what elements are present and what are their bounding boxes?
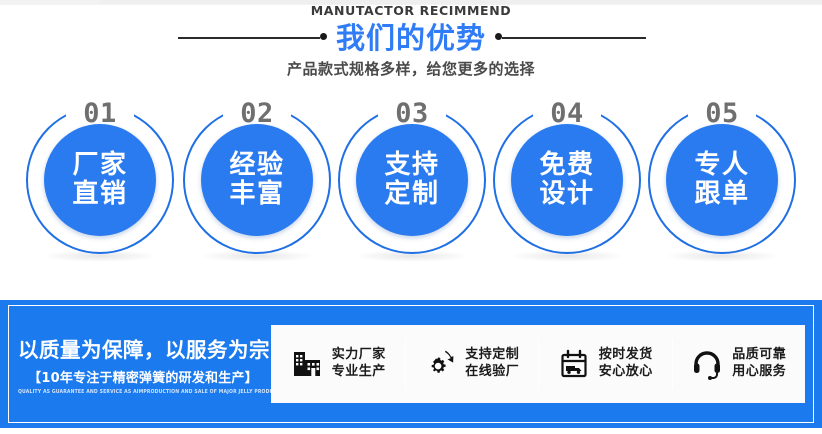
advantage-number: 01 (20, 98, 180, 129)
banner-slogan: 以质量为保障，以服务为宗旨 【10年专注于精密弹簧的研发和生产】 QUALITY… (18, 333, 268, 395)
header-title-row: 我们的优势 (0, 22, 822, 54)
advantage-text: 支持 定制 (356, 124, 468, 236)
header-section: MANUTACTOR RECIMMEND 我们的优势 产品款式规格多样，给您更多… (0, 0, 822, 90)
feature-label: 品质可靠 用心服务 (732, 347, 786, 381)
feature-label-line2: 安心放心 (599, 364, 653, 381)
advantage-text-line2: 设计 (539, 180, 594, 209)
advantage-text: 经验 丰富 (201, 124, 313, 236)
headset-icon (690, 347, 724, 381)
header-subtitle: 产品款式规格多样，给您更多的选择 (0, 58, 822, 79)
advantage-text-line2: 定制 (384, 180, 439, 209)
title-dot-right-icon (495, 33, 502, 40)
advantage-text-line1: 免费 (539, 151, 594, 180)
feature-label: 实力厂家 专业生产 (332, 347, 386, 381)
feature-label-line1: 品质可靠 (732, 347, 786, 364)
gear-arrow-icon (423, 347, 457, 381)
feature-panel: 实力厂家 专业生产 支持定制 在线验厂 (271, 325, 805, 403)
feature-label-line1: 支持定制 (465, 347, 519, 364)
advantage-item-05[interactable]: 专人 跟单 05 (642, 100, 802, 272)
feature-label-line2: 在线验厂 (465, 364, 519, 381)
feature-label-line1: 按时发货 (599, 347, 653, 364)
bottom-banner: 以质量为保障，以服务为宗旨 【10年专注于精密弹簧的研发和生产】 QUALITY… (0, 300, 822, 428)
advantage-text: 厂家 直销 (44, 124, 156, 236)
advantage-item-04[interactable]: 免费 设计 04 (487, 100, 647, 272)
page-title: 我们的优势 (0, 22, 822, 54)
advantage-item-01[interactable]: 厂家 直销 01 (20, 100, 180, 272)
advantage-text-line2: 跟单 (694, 180, 749, 209)
feature-label: 支持定制 在线验厂 (465, 347, 519, 381)
advantage-text-line2: 丰富 (229, 180, 284, 209)
feature-item-factory[interactable]: 实力厂家 专业生产 (271, 325, 405, 403)
advantage-text: 免费 设计 (511, 124, 623, 236)
feature-item-customization[interactable]: 支持定制 在线验厂 (405, 325, 539, 403)
advantage-text-line2: 直销 (72, 180, 127, 209)
advantage-number: 02 (177, 98, 337, 129)
header-eyebrow: MANUTACTOR RECIMMEND (0, 3, 822, 18)
advantage-text-line1: 厂家 (72, 151, 127, 180)
feature-label-line2: 用心服务 (732, 364, 786, 381)
feature-label: 按时发货 安心放心 (599, 347, 653, 381)
advantage-number: 04 (487, 98, 647, 129)
advantage-number: 05 (642, 98, 802, 129)
advantage-number: 03 (332, 98, 492, 129)
title-rule-right (502, 37, 646, 39)
feature-label-line2: 专业生产 (332, 364, 386, 381)
calendar-truck-icon (557, 347, 591, 381)
feature-label-line1: 实力厂家 (332, 347, 386, 364)
advantage-text-line1: 支持 (384, 151, 439, 180)
slogan-line-1: 以质量为保障，以服务为宗旨 (18, 333, 268, 363)
advantage-item-02[interactable]: 经验 丰富 02 (177, 100, 337, 272)
advantage-item-03[interactable]: 支持 定制 03 (332, 100, 492, 272)
slogan-line-2: 【10年专注于精密弹簧的研发和生产】 (18, 367, 268, 386)
factory-building-icon (290, 347, 324, 381)
slogan-line-3-english: QUALITY AS GUARANTEE AND SERVICE AS AIMP… (18, 390, 268, 396)
feature-item-service[interactable]: 品质可靠 用心服务 (672, 325, 806, 403)
advantage-text-line1: 专人 (694, 151, 749, 180)
promo-page: MANUTACTOR RECIMMEND 我们的优势 产品款式规格多样，给您更多… (0, 0, 822, 434)
advantage-text: 专人 跟单 (666, 124, 778, 236)
advantage-text-line1: 经验 (229, 151, 284, 180)
advantages-row: 厂家 直销 01 经验 丰富 02 支持 定制 03 (0, 92, 822, 277)
feature-item-delivery[interactable]: 按时发货 安心放心 (538, 325, 672, 403)
